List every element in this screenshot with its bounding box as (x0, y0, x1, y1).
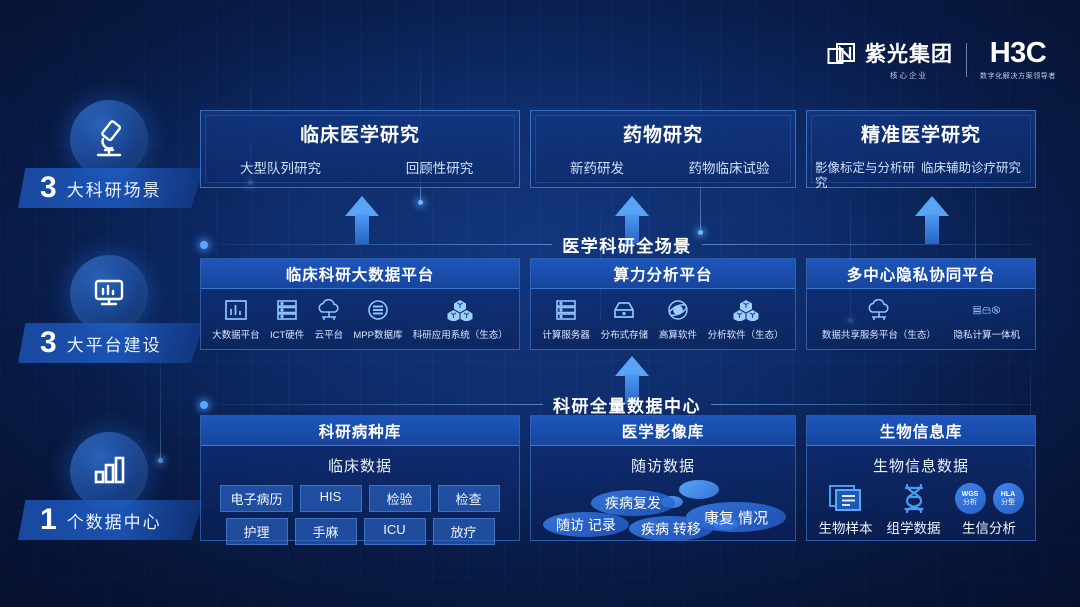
datacenter-title: 医学影像库 (622, 420, 705, 442)
platform-item[interactable]: 科研应用系统（生态） (413, 297, 508, 341)
platform-item[interactable]: 分布式存储 (601, 297, 649, 341)
platform-header: 算力分析平台 (531, 259, 795, 289)
microscope-icon (70, 100, 148, 178)
platform-item-label: 高算软件 (659, 327, 697, 341)
rail-plate-platforms: 3 大平台建设 (18, 323, 204, 363)
datacenter-subtitle: 临床数据 (201, 455, 519, 476)
platform-item-label: ICT硬件 (270, 327, 304, 341)
data-tag[interactable]: 护理 (226, 518, 288, 545)
brand-tagline-cn: 核心企业 (890, 70, 928, 81)
scene-sub: 大型队列研究 (201, 161, 360, 177)
platform-card-privacy[interactable]: 多中心隐私协同平台 数据共享服务平台（生态） (806, 258, 1036, 350)
cubes-icon (732, 297, 760, 323)
platform-item[interactable]: 大数据平台 (212, 297, 260, 341)
badge-top-label: HLA (1001, 491, 1015, 498)
datacenter-header: 医学影像库 (531, 416, 795, 446)
slide-canvas: 紫光集团 核心企业 H3C 数字化解决方案领导者 3 大科 (0, 0, 1080, 607)
platform-item[interactable]: 高算软件 (659, 297, 697, 341)
platform-item[interactable]: 隐私计算一体机 (954, 297, 1021, 341)
bio-item-label: 生物样本 (819, 517, 873, 537)
platform-item[interactable]: 云平台 (315, 297, 344, 341)
platform-item-label: 分布式存储 (601, 327, 649, 341)
storage-disk-icon (610, 297, 638, 323)
datacenter-subtitle: 生物信息数据 (807, 455, 1035, 476)
data-tag[interactable]: 检查 (438, 485, 500, 512)
platform-title: 多中心隐私协同平台 (847, 263, 996, 285)
data-tag[interactable]: 放疗 (433, 518, 495, 545)
scene-title: 临床医学研究 (300, 120, 420, 147)
sample-cards-icon (828, 480, 864, 514)
bio-item-label: 组学数据 (887, 517, 941, 537)
bio-item-label: 生信分析 (962, 517, 1016, 537)
data-tag[interactable]: 电子病历 (220, 485, 292, 512)
bio-item[interactable]: WGS 分析 HLA 分型 生信分析 (955, 480, 1024, 537)
monitor-chart-icon (70, 255, 148, 333)
cloud-network-icon (865, 297, 893, 323)
bigdata-chart-icon (222, 297, 250, 323)
ziguang-logo-icon (827, 42, 857, 77)
scene-title: 药物研究 (623, 120, 703, 147)
badge-top-label: WGS (962, 491, 979, 498)
band-datacenter: 科研全量数据中心 (200, 392, 1036, 417)
data-tag[interactable]: 检验 (369, 485, 431, 512)
platform-header: 多中心隐私协同平台 (807, 259, 1035, 289)
datacenter-title: 生物信息库 (880, 420, 963, 442)
brand-logo: 紫光集团 核心企业 H3C 数字化解决方案领导者 (827, 38, 1056, 81)
platform-header: 临床科研大数据平台 (201, 259, 519, 289)
decor-dot (418, 200, 423, 205)
badge-hla[interactable]: HLA 分型 (993, 483, 1024, 514)
rail-number: 1 (40, 505, 56, 535)
platform-item[interactable]: 计算服务器 (542, 297, 590, 341)
rail-number: 3 (40, 328, 56, 358)
scene-sub: 药物临床试验 (663, 161, 795, 177)
platform-item[interactable]: ICT硬件 (270, 297, 304, 341)
band-line (711, 404, 1036, 405)
data-tag[interactable]: ICU (364, 518, 426, 545)
band-line (218, 244, 552, 245)
platform-title: 临床科研大数据平台 (286, 263, 435, 285)
badge-wgs[interactable]: WGS 分析 (955, 483, 986, 514)
bubble-tag[interactable]: 随访 记录 (543, 512, 629, 537)
server-rack-icon (273, 297, 301, 323)
bubble-cloud: 疾病复发 康复 情况 随访 记录 疾病 转移 (531, 478, 795, 540)
rail-plate-datacenter: 1 个数据中心 (18, 500, 204, 540)
brand-name-en: H3C (990, 39, 1047, 68)
bubble-tag[interactable]: 疾病 转移 (629, 516, 713, 541)
datacenter-header: 科研病种库 (201, 416, 519, 446)
dna-helix-icon (899, 480, 929, 514)
rail-label: 大科研场景 (67, 176, 162, 201)
decor-dot (158, 458, 163, 463)
server-rack-icon (552, 297, 580, 323)
platform-item-label: 隐私计算一体机 (954, 327, 1021, 341)
scene-title: 精准医学研究 (861, 120, 981, 147)
band-line (702, 244, 1036, 245)
bar-chart-icon (70, 432, 148, 510)
rail-label: 大平台建设 (67, 331, 162, 356)
datacenter-subtitle: 随访数据 (531, 455, 795, 476)
decor-bubble (679, 480, 719, 499)
platform-item[interactable]: 数据共享服务平台（生态） (822, 297, 936, 341)
band-title: 医学科研全场景 (562, 232, 692, 257)
datacenter-card-imaging[interactable]: 医学影像库 随访数据 疾病复发 康复 情况 随访 记录 疾病 转移 (530, 415, 796, 541)
scene-sub: 影像标定与分析研究 (815, 161, 921, 192)
datacenter-title: 科研病种库 (319, 420, 402, 442)
platform-item-label: 科研应用系统（生态） (413, 327, 508, 341)
scene-sub: 新药研发 (531, 161, 663, 177)
tag-list: 电子病历 HIS 检验 检查 护理 手麻 ICU 放疗 (201, 485, 519, 545)
datacenter-card-disease[interactable]: 科研病种库 临床数据 电子病历 HIS 检验 检查 护理 手麻 ICU 放疗 (200, 415, 520, 541)
band-line (218, 404, 543, 405)
bio-item-list: 生物样本 组学数据 (807, 480, 1035, 537)
logo-divider (966, 43, 967, 77)
platform-card-bigdata[interactable]: 临床科研大数据平台 大数据平台 ICT硬件 云平台 (200, 258, 520, 350)
badge-bottom-label: 分析 (963, 499, 977, 506)
platform-item-label: 数据共享服务平台（生态） (822, 327, 936, 341)
cloud-network-icon (315, 297, 343, 323)
atom-compute-icon (664, 297, 692, 323)
band-dot-icon (200, 401, 208, 409)
bio-item[interactable]: 组学数据 (887, 480, 941, 537)
data-tag[interactable]: HIS (300, 485, 362, 512)
rail-plate-scenes: 3 大科研场景 (18, 168, 204, 208)
scene-card-precision[interactable]: 精准医学研究 影像标定与分析研究 临床辅助诊疗研究 (806, 110, 1036, 188)
band-dot-icon (200, 241, 208, 249)
data-tag[interactable]: 手麻 (295, 518, 357, 545)
database-stack-icon (364, 297, 392, 323)
rail-label: 个数据中心 (67, 508, 162, 533)
band-scenes: 医学科研全场景 (200, 232, 1036, 257)
brand-name-cn: 紫光集团 (865, 38, 953, 68)
scene-sub: 回顾性研究 (360, 161, 519, 177)
brand-tagline-en: 数字化解决方案领导者 (980, 71, 1056, 81)
bio-item[interactable]: 生物样本 (819, 480, 873, 537)
scene-sub: 临床辅助诊疗研究 (921, 161, 1027, 192)
platform-item[interactable]: 分析软件（生态） (708, 297, 784, 341)
platform-item-label: 计算服务器 (542, 327, 590, 341)
scene-card-clinical[interactable]: 临床医学研究 大型队列研究 回顾性研究 (200, 110, 520, 188)
platform-item-label: 分析软件（生态） (708, 327, 784, 341)
platform-card-compute[interactable]: 算力分析平台 计算服务器 分布式存储 高算软件 (530, 258, 796, 350)
datacenter-card-bioinfo[interactable]: 生物信息库 生物信息数据 生物样本 (806, 415, 1036, 541)
rail-number: 3 (40, 173, 56, 203)
badge-bottom-label: 分型 (1001, 499, 1015, 506)
bubble-tag[interactable]: 疾病复发 (591, 490, 675, 516)
privacy-compute-icon (973, 297, 1001, 323)
band-title: 科研全量数据中心 (553, 392, 701, 417)
platform-item-label: 云平台 (315, 327, 344, 341)
platform-item-label: MPP数据库 (353, 327, 402, 341)
platform-item[interactable]: MPP数据库 (353, 297, 402, 341)
datacenter-header: 生物信息库 (807, 416, 1035, 446)
analysis-badges-icon: WGS 分析 HLA 分型 (955, 480, 1024, 514)
platform-item-label: 大数据平台 (212, 327, 260, 341)
cubes-icon (446, 297, 474, 323)
platform-title: 算力分析平台 (613, 263, 712, 285)
scene-card-drug[interactable]: 药物研究 新药研发 药物临床试验 (530, 110, 796, 188)
